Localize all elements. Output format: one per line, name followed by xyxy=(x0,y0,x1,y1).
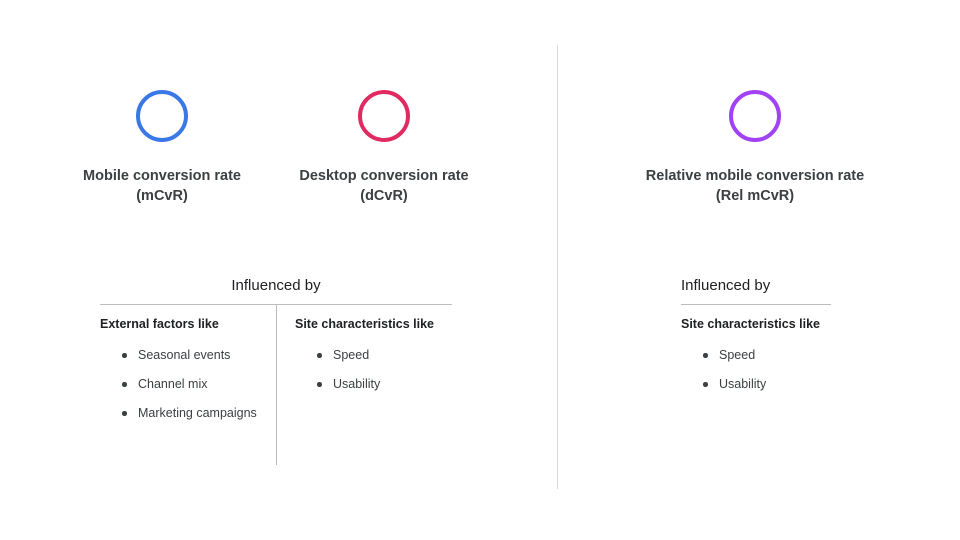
influenced-by-title: Influenced by xyxy=(100,276,452,304)
metric-label-mcvr: Mobile conversion rate (mCvR) xyxy=(62,166,262,206)
influenced-by-block-left: Influenced by External factors like Seas… xyxy=(100,276,452,465)
circle-outline-icon xyxy=(356,88,412,144)
list-item: Marketing campaigns xyxy=(122,405,266,421)
metric-card-mcvr: Mobile conversion rate (mCvR) xyxy=(62,88,262,206)
influence-columns: External factors like Seasonal events Ch… xyxy=(100,305,452,465)
influenced-by-title: Influenced by xyxy=(681,276,831,304)
slide-canvas: Mobile conversion rate (mCvR) Desktop co… xyxy=(0,0,960,540)
metric-card-dcvr: Desktop conversion rate (dCvR) xyxy=(284,88,484,206)
influenced-by-block-right: Influenced by Site characteristics like … xyxy=(681,276,831,405)
influence-column-site-characteristics: Site characteristics like Speed Usabilit… xyxy=(277,305,452,465)
column-heading-external-factors: External factors like xyxy=(100,316,266,333)
influence-list-external-factors: Seasonal events Channel mix Marketing ca… xyxy=(100,347,266,421)
metric-label-dcvr: Desktop conversion rate (dCvR) xyxy=(284,166,484,206)
list-item: Speed xyxy=(317,347,452,363)
circle-outline-icon xyxy=(134,88,190,144)
circle-outline-icon xyxy=(727,88,783,144)
metric-label-rel-mcvr: Relative mobile conversion rate (Rel mCv… xyxy=(640,166,870,206)
influence-list-site-characteristics: Speed Usability xyxy=(681,347,831,392)
list-item: Seasonal events xyxy=(122,347,266,363)
influence-column-external-factors: External factors like Seasonal events Ch… xyxy=(100,305,276,465)
list-item: Usability xyxy=(703,376,831,392)
list-item: Channel mix xyxy=(122,376,266,392)
influence-columns: Site characteristics like Speed Usabilit… xyxy=(681,305,831,405)
column-heading-site-characteristics: Site characteristics like xyxy=(295,316,452,333)
influence-column-site-characteristics: Site characteristics like Speed Usabilit… xyxy=(681,305,831,405)
influence-list-site-characteristics: Speed Usability xyxy=(295,347,452,392)
list-item: Speed xyxy=(703,347,831,363)
section-divider xyxy=(557,45,558,489)
metric-card-rel-mcvr: Relative mobile conversion rate (Rel mCv… xyxy=(640,88,870,206)
list-item: Usability xyxy=(317,376,452,392)
column-heading-site-characteristics: Site characteristics like xyxy=(681,316,831,333)
